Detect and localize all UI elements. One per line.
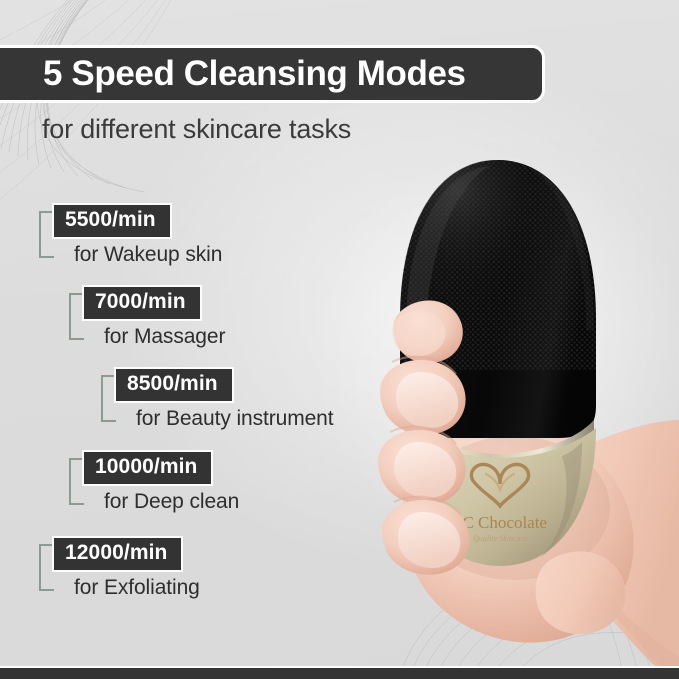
speed-badge-5: 12000/min [52,536,183,572]
speed-use-label-1: for Wakeup skin [74,243,222,267]
bottom-bar [0,668,679,679]
speed-use-label-2: for Massager [104,325,225,349]
speed-use-label-4: for Deep clean [104,490,239,514]
speed-use-label-5: for Exfoliating [74,576,200,600]
thumb [536,551,626,634]
speed-badge-3: 8500/min [114,367,234,403]
speed-use-label-3: for Beauty instrument [136,407,334,431]
speed-badge-4: 10000/min [82,450,213,486]
speed-badge-1: 5500/min [52,203,172,239]
speed-badge-2: 7000/min [82,285,202,321]
page-subtitle: for different skincare tasks [42,114,351,145]
product-infographic: SC Chocolate Quality Skincare [0,0,679,679]
page-title: 5 Speed Cleansing Modes [0,54,466,94]
product-image: SC Chocolate Quality Skincare [300,120,679,679]
page-title-bar: 5 Speed Cleansing Modes [0,45,545,103]
brand-tagline: Quality Skincare [473,534,527,543]
